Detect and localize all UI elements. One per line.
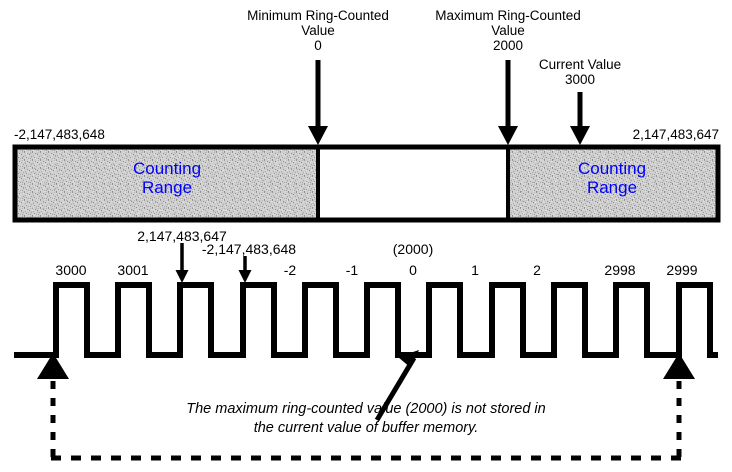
- min-int-arrow-head: [239, 270, 252, 283]
- maximum-arrow-head: [498, 126, 518, 145]
- right-counting-range-label: Counting Range: [578, 159, 646, 197]
- maximum-callout-line2: Value: [435, 23, 581, 38]
- right-counting-range-line2: Range: [578, 178, 646, 197]
- current-value-callout: Current Value 3000: [539, 57, 621, 87]
- maximum-callout-value: 2000: [435, 38, 581, 53]
- waveform-min-int-label: -2,147,483,648: [202, 241, 296, 257]
- minimum-arrow-head: [308, 126, 328, 145]
- square-wave-path: [14, 285, 718, 355]
- waveform-label-6: 0: [409, 262, 417, 278]
- minimum-callout-line2: Value: [247, 23, 389, 38]
- diagram-canvas: Minimum Ring-Counted Value 0 Maximum Rin…: [0, 0, 732, 472]
- left-counting-range-label: Counting Range: [133, 159, 201, 197]
- waveform-parenthetical-label: (2000): [393, 241, 433, 257]
- figure-caption: The maximum ring-counted value (2000) is…: [86, 400, 646, 438]
- min-bound-label: -2,147,483,648: [14, 127, 105, 142]
- waveform-label-9: 2998: [604, 262, 635, 278]
- current-value-callout-value: 3000: [539, 72, 621, 87]
- left-counting-range-line2: Range: [133, 178, 201, 197]
- maximum-callout-line1: Maximum Ring-Counted: [435, 8, 581, 23]
- waveform-label-1: 3001: [117, 262, 148, 278]
- waveform-label-0: 3000: [55, 262, 86, 278]
- waveform-label-4: -2: [284, 262, 296, 278]
- maximum-callout: Maximum Ring-Counted Value 2000: [435, 8, 581, 53]
- minimum-callout-line1: Minimum Ring-Counted: [247, 8, 389, 23]
- waveform-label-10: 2999: [666, 262, 697, 278]
- right-counting-range-line1: Counting: [578, 159, 646, 178]
- pulse-train-group: [14, 285, 718, 355]
- waveform-label-8: 2: [533, 262, 541, 278]
- max-int-arrow-head: [176, 270, 189, 283]
- current-value-arrow-head: [570, 126, 590, 145]
- minimum-callout-value: 0: [247, 38, 389, 53]
- figure-caption-line2: the current value of buffer memory.: [86, 419, 646, 438]
- minimum-callout: Minimum Ring-Counted Value 0: [247, 8, 389, 53]
- current-value-callout-line1: Current Value: [539, 57, 621, 72]
- max-bound-label: 2,147,483,647: [633, 127, 719, 142]
- waveform-label-5: -1: [346, 262, 358, 278]
- waveform-label-7: 1: [471, 262, 479, 278]
- left-counting-range-line1: Counting: [133, 159, 201, 178]
- figure-caption-line1: The maximum ring-counted value (2000) is…: [86, 400, 646, 419]
